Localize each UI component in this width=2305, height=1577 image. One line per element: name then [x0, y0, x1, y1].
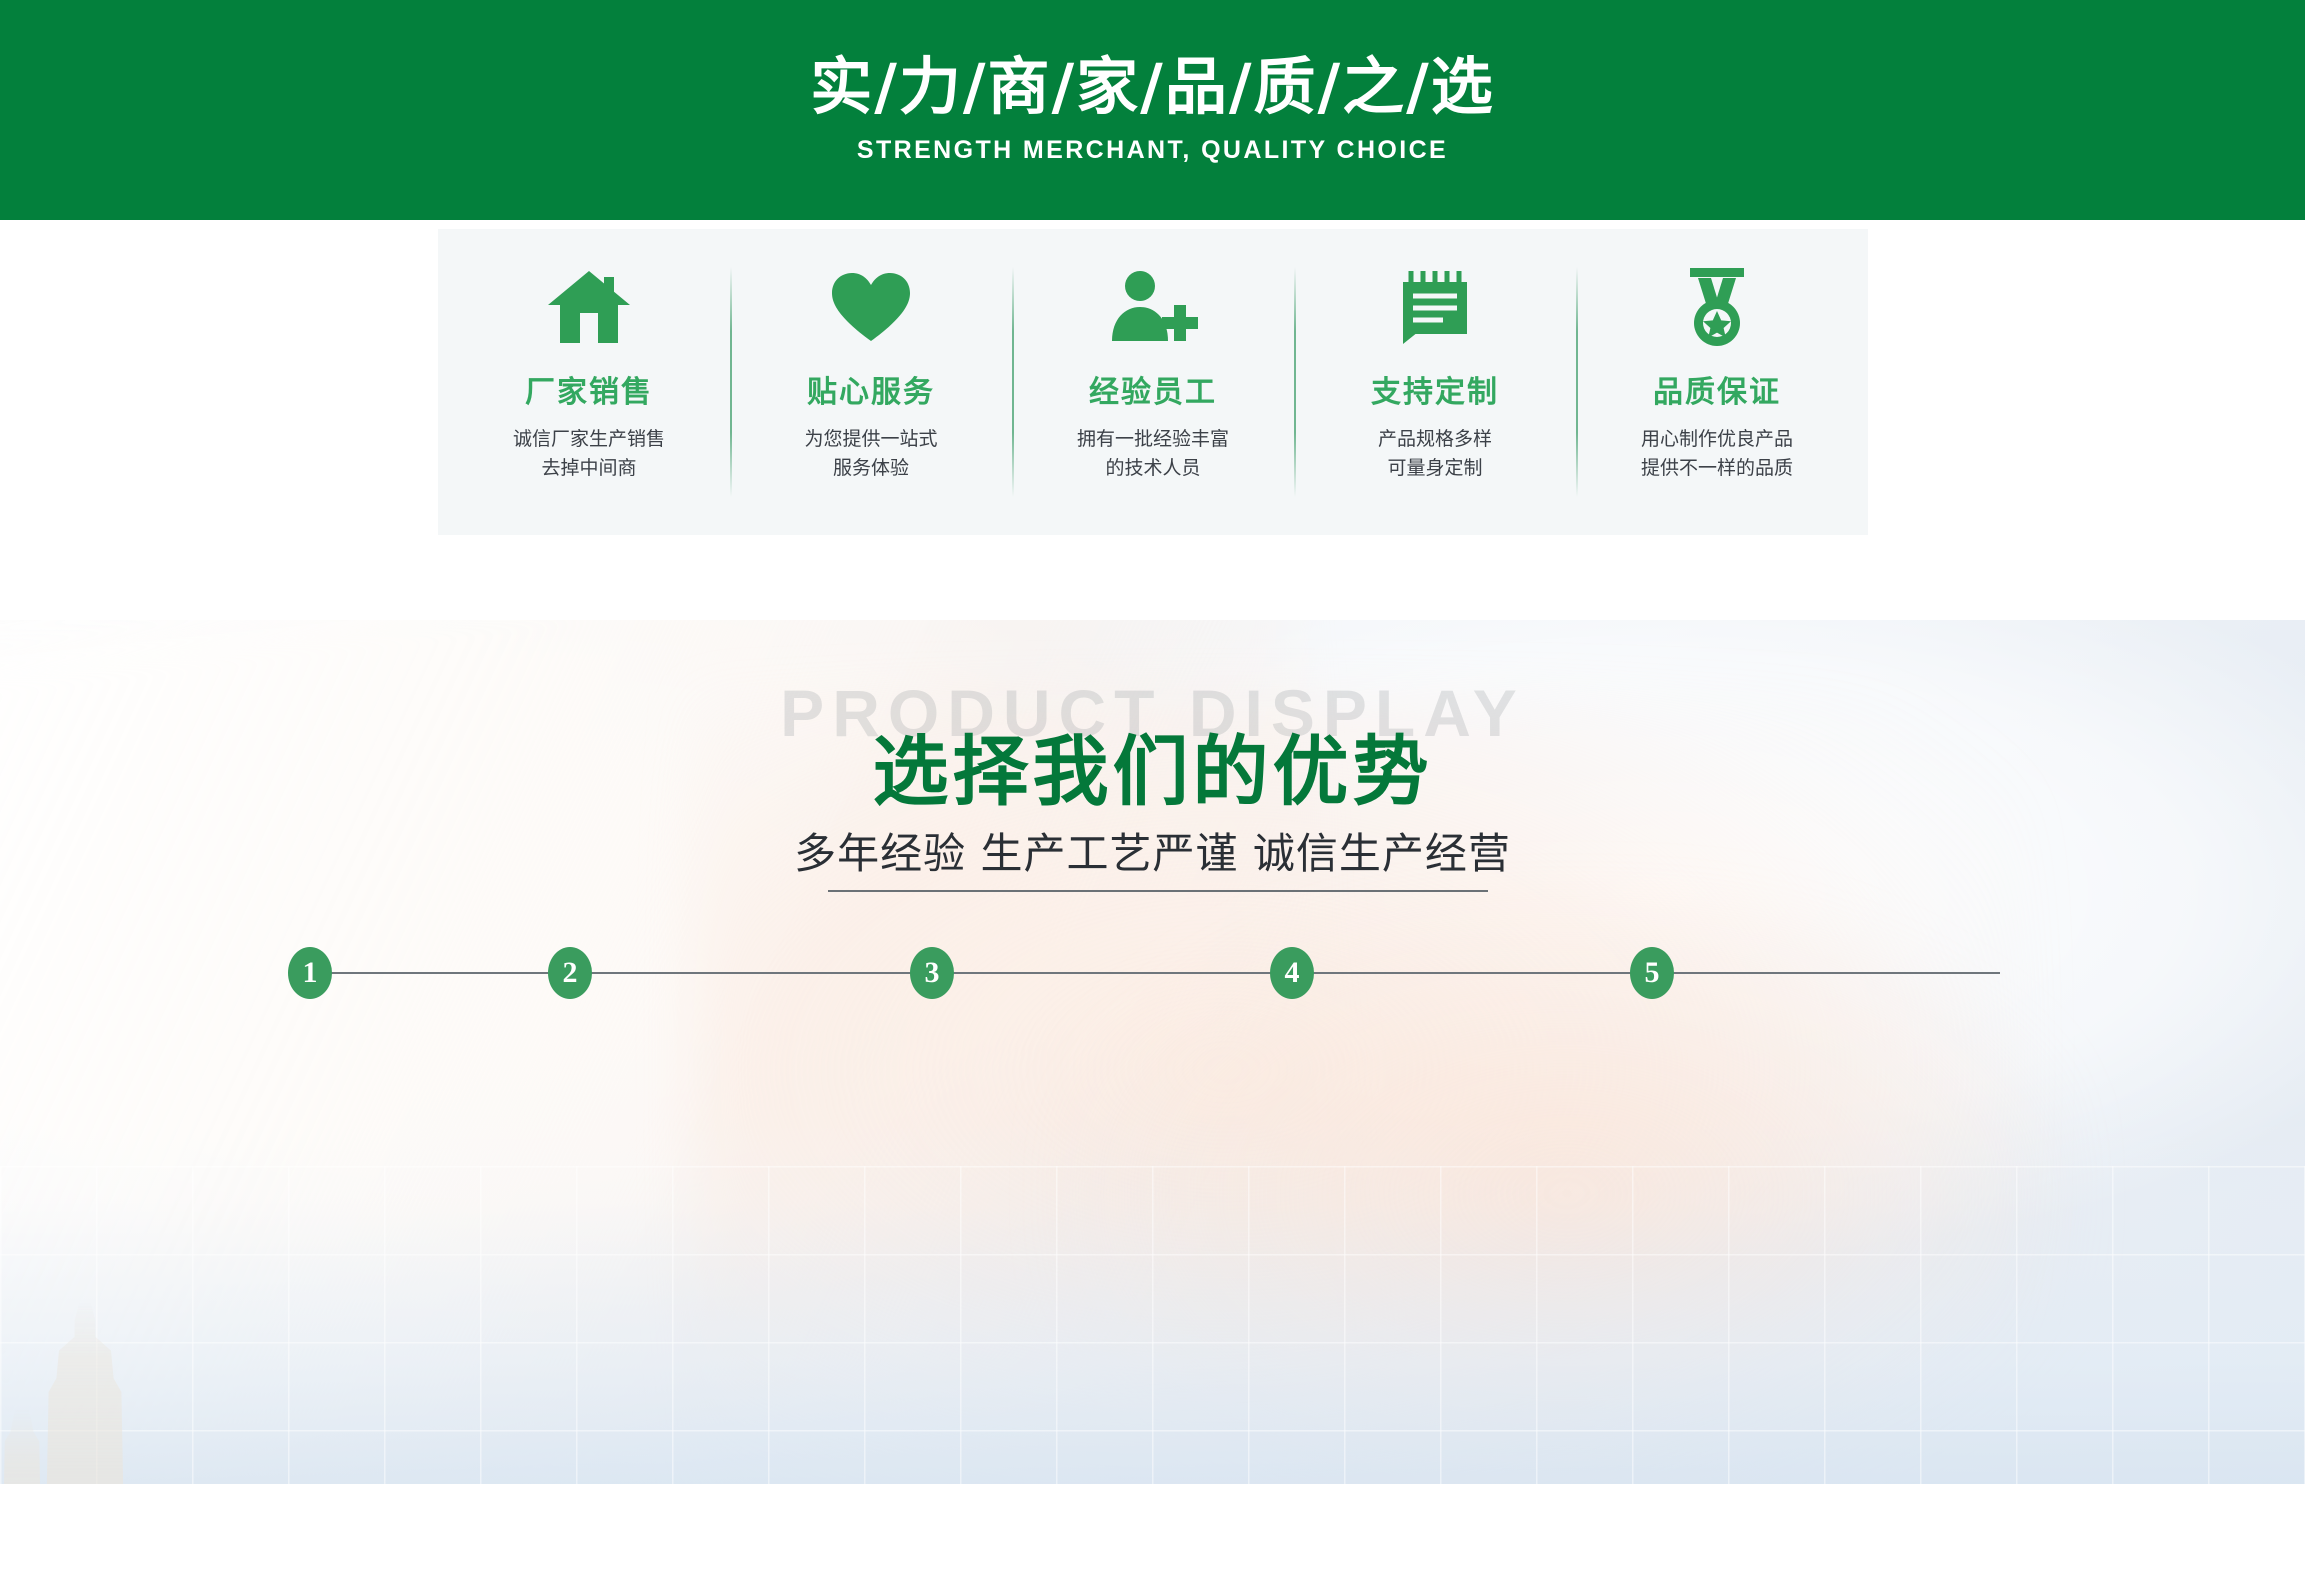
timeline-step-4: 4 — [1270, 947, 1314, 999]
house-icon — [546, 265, 632, 349]
feature-title: 经验员工 — [1089, 367, 1217, 411]
feature-desc-line-2: 去掉中间商 — [513, 454, 665, 483]
feature-desc-line-2: 的技术人员 — [1077, 454, 1229, 483]
feature-item-custom-support[interactable]: 支持定制 产品规格多样 可量身定制 — [1294, 229, 1576, 535]
advantage-heading: PRODUCT DISPLAY 选择我们的优势 多年经验 生产工艺严谨 诚信生产… — [0, 620, 2305, 920]
feature-item-factory-sales[interactable]: 厂家销售 诚信厂家生产销售 去掉中间商 — [448, 229, 730, 535]
feature-desc-line-2: 服务体验 — [804, 454, 937, 483]
title-divider — [828, 890, 1488, 892]
timeline-step-5: 5 — [1630, 947, 1674, 999]
feature-desc-line-1: 产品规格多样 — [1378, 425, 1492, 454]
feature-title: 厂家销售 — [525, 367, 653, 411]
feature-description: 为您提供一站式 服务体验 — [804, 425, 937, 484]
feature-desc-line-1: 为您提供一站式 — [804, 425, 937, 454]
feature-desc-line-2: 提供不一样的品质 — [1641, 454, 1793, 483]
notepad-icon — [1399, 265, 1471, 349]
feature-item-quality-guarantee[interactable]: 品质保证 用心制作优良产品 提供不一样的品质 — [1576, 229, 1858, 535]
feature-item-caring-service[interactable]: 贴心服务 为您提供一站式 服务体验 — [730, 229, 1012, 535]
feature-description: 用心制作优良产品 提供不一样的品质 — [1641, 425, 1793, 484]
timeline-step-1: 1 — [288, 947, 332, 999]
hero-subtitle: STRENGTH MERCHANT, QUALITY CHOICE — [857, 136, 1448, 165]
feature-description: 产品规格多样 可量身定制 — [1378, 425, 1492, 484]
user-plus-icon — [1108, 265, 1198, 349]
feature-description: 拥有一批经验丰富 的技术人员 — [1077, 425, 1229, 484]
features-section: 厂家销售 诚信厂家生产销售 去掉中间商 贴心服务 为您提供一站式 服务体验 — [0, 220, 2305, 620]
feature-description: 诚信厂家生产销售 去掉中间商 — [513, 425, 665, 484]
hero-title: 实/力/商/家/品/质/之/选 — [810, 56, 1495, 118]
features-row: 厂家销售 诚信厂家生产销售 去掉中间商 贴心服务 为您提供一站式 服务体验 — [438, 229, 1868, 535]
feature-desc-line-1: 用心制作优良产品 — [1641, 425, 1793, 454]
section-title: 选择我们的优势 — [0, 710, 2305, 820]
feature-title: 支持定制 — [1371, 367, 1499, 411]
section-subtitle: 多年经验 生产工艺严谨 诚信生产经营 — [0, 820, 2305, 881]
timeline-steps: 1 2 3 4 5 — [310, 947, 2000, 999]
medal-icon — [1678, 265, 1756, 349]
hero-banner: 实/力/商/家/品/质/之/选 STRENGTH MERCHANT, QUALI… — [0, 0, 2305, 220]
feature-desc-line-2: 可量身定制 — [1378, 454, 1492, 483]
advantage-section: PRODUCT DISPLAY 选择我们的优势 多年经验 生产工艺严谨 诚信生产… — [0, 620, 2305, 1530]
feature-title: 贴心服务 — [807, 367, 935, 411]
heart-icon — [828, 265, 914, 349]
timeline-step-3: 3 — [910, 947, 954, 999]
timeline-step-2: 2 — [548, 947, 592, 999]
feature-desc-line-1: 诚信厂家生产销售 — [513, 425, 665, 454]
page-root: 实/力/商/家/品/质/之/选 STRENGTH MERCHANT, QUALI… — [0, 0, 2305, 1577]
feature-desc-line-1: 拥有一批经验丰富 — [1077, 425, 1229, 454]
feature-title: 品质保证 — [1653, 367, 1781, 411]
feature-item-experienced-staff[interactable]: 经验员工 拥有一批经验丰富 的技术人员 — [1012, 229, 1294, 535]
